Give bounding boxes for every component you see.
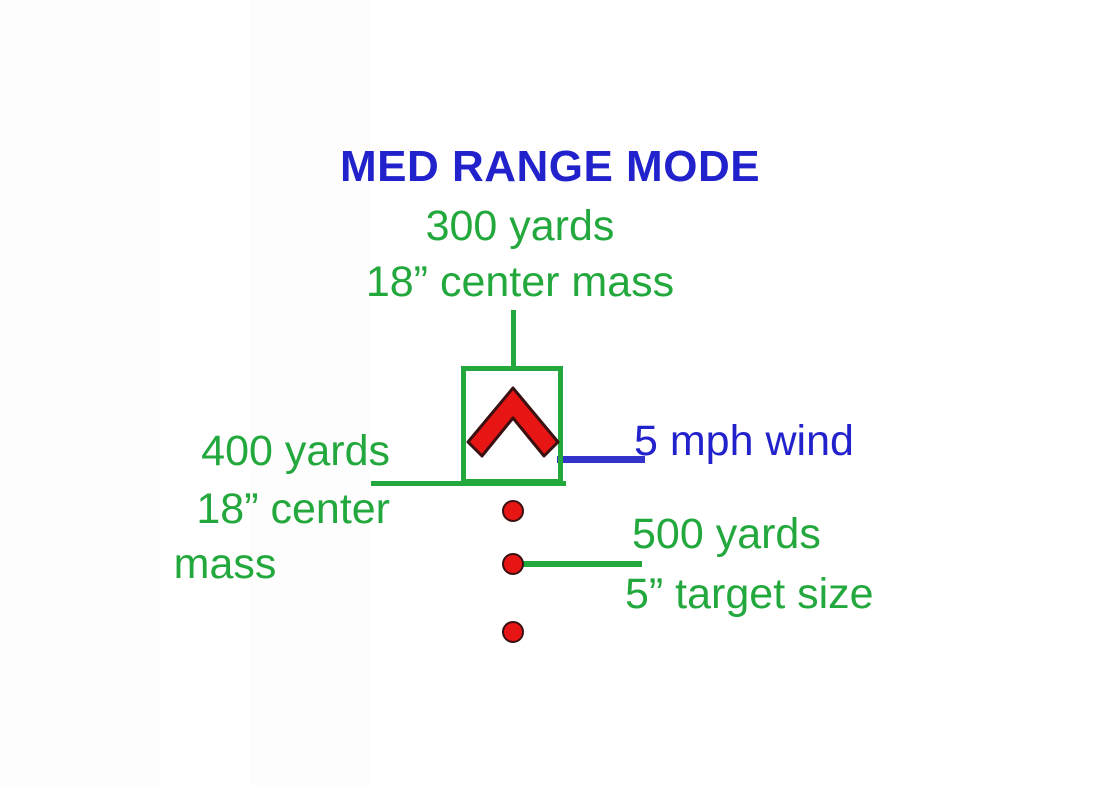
page-title: MED RANGE MODE: [0, 142, 1100, 192]
label-300-yards-line1: 300 yards: [180, 200, 860, 252]
holdover-dot-2: [502, 553, 524, 575]
red-chevron-icon: [450, 380, 580, 470]
reticle-diagram: MED RANGE MODE 300 yards 18” center mass…: [0, 0, 1100, 786]
leader-line-500-yards: [520, 561, 642, 567]
label-400-yards-line2: 18” center: [60, 483, 390, 535]
holdover-dot-3: [502, 621, 524, 643]
background-band-mid: [250, 0, 370, 786]
label-500-yards-line1: 500 yards: [632, 508, 821, 560]
label-300-yards-line2: 18” center mass: [180, 256, 860, 308]
label-400-yards-line1: 400 yards: [60, 425, 390, 477]
leader-line-300-yards: [511, 310, 516, 368]
holdover-dot-1: [502, 500, 524, 522]
label-wind: 5 mph wind: [634, 415, 854, 467]
label-400-yards-line3: mass: [60, 538, 390, 590]
red-chevron: [450, 380, 580, 470]
label-500-yards-line2: 5” target size: [625, 568, 874, 620]
background-band-left: [0, 0, 160, 786]
